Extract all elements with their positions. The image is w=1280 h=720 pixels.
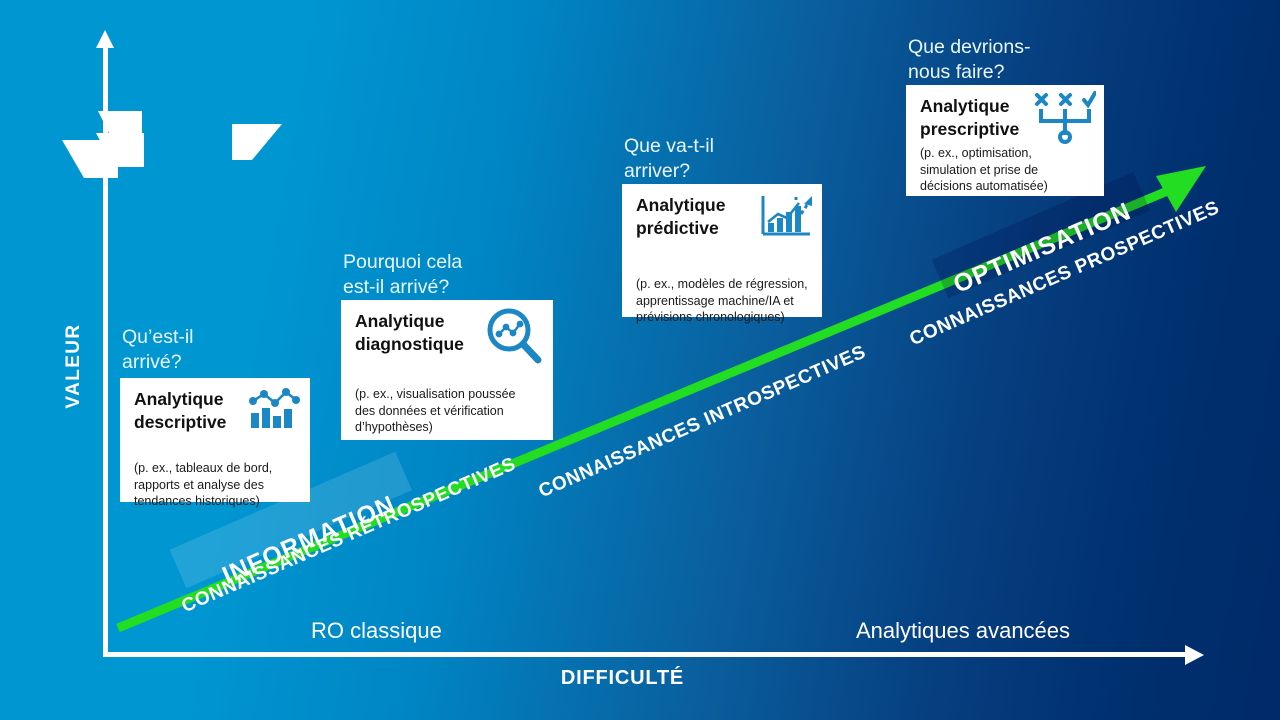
x-axis-line (103, 652, 1193, 657)
callout-title-diagnostic: Analytique diagnostique (355, 310, 475, 356)
x-axis-label: DIFFICULTÉ (0, 667, 1245, 690)
callout-predictive[interactable]: Analytique prédictive (p. ex., modèles d… (622, 184, 822, 317)
callout-diagnostic[interactable]: Analytique diagnostique (p. ex., visuali… (341, 300, 553, 440)
callout-tail-descriptive (232, 124, 282, 160)
callout-title-prescriptive: Analytique prescriptive (920, 95, 1030, 141)
callout-desc-descriptive: (p. ex., tableaux de bord, rapports et a… (134, 460, 296, 510)
question-descriptive: Qu’est-il arrivé? (122, 325, 194, 375)
axis-caption-left: RO classique (311, 618, 442, 644)
callout-tail-prescriptive (98, 111, 142, 143)
axis-caption-right: Analytiques avancées (856, 618, 1070, 644)
callout-title-predictive: Analytique prédictive (636, 194, 746, 240)
y-axis-label: VALEUR (63, 286, 85, 446)
maturity-diagram: VALEUR DIFFICULTÉ RO classique Analytiqu… (0, 0, 1280, 720)
callout-title-descriptive: Analytique descriptive (134, 388, 239, 434)
bar-chart-line-icon (248, 386, 300, 430)
callout-descriptive[interactable]: Analytique descriptive (p. ex., tableaux… (120, 378, 310, 502)
question-predictive: Que va-t-il arriver? (624, 134, 714, 184)
question-diagnostic: Pourquoi cela est-il arrivé? (343, 250, 462, 300)
decision-tree-icon (1034, 89, 1096, 145)
callout-desc-diagnostic: (p. ex., visualisation poussée des donné… (355, 386, 539, 436)
y-axis-arrowhead-icon (96, 30, 114, 48)
callout-desc-predictive: (p. ex., modèles de régression, apprenti… (636, 276, 808, 326)
callout-desc-prescriptive: (p. ex., optimisation, simulation et pri… (920, 145, 1090, 195)
magnifier-chart-icon (483, 306, 545, 368)
question-prescriptive: Que devrions- nous faire? (908, 35, 1030, 85)
callout-prescriptive[interactable]: Analytique prescriptive (p. ex., optimis… (906, 85, 1104, 196)
x-axis-arrowhead-icon (1185, 645, 1204, 665)
growth-forecast-icon (758, 192, 814, 242)
